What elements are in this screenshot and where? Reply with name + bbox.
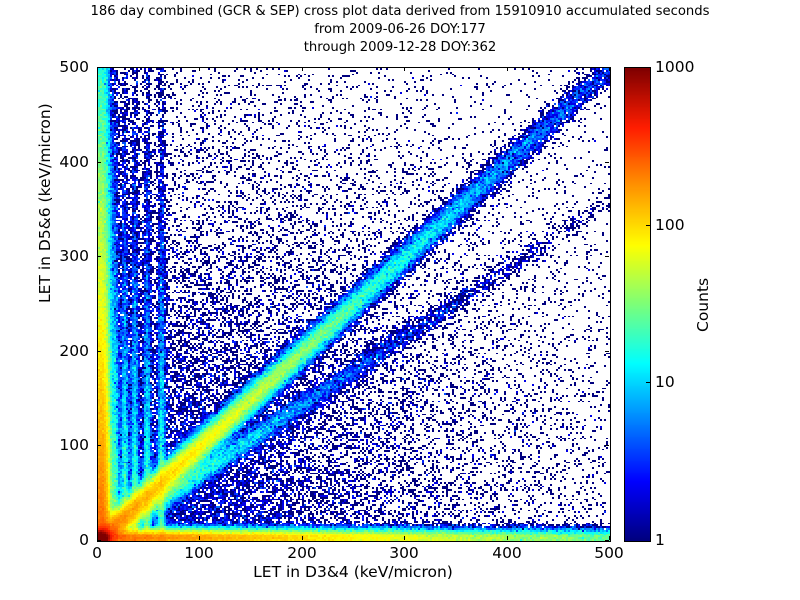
y-tick-right-100 — [605, 445, 609, 446]
y-tick-label-200: 200 — [33, 342, 89, 360]
y-tick-200 — [97, 351, 101, 352]
y-tick-label-100: 100 — [33, 436, 89, 454]
y-tick-100 — [97, 445, 101, 446]
x-tick-top-500 — [609, 67, 610, 71]
colorbar-tick-label-100: 100 — [655, 216, 685, 234]
figure-canvas: 186 day combined (GCR & SEP) cross plot … — [0, 0, 800, 600]
y-tick-right-300 — [605, 256, 609, 257]
x-tick-500 — [609, 536, 610, 540]
y-tick-label-500: 500 — [33, 58, 89, 76]
x-tick-100 — [199, 536, 200, 540]
y-tick-400 — [97, 162, 101, 163]
colorbar-label: Counts — [694, 278, 712, 332]
y-tick-right-0 — [605, 540, 609, 541]
x-tick-top-300 — [404, 67, 405, 71]
title-line-2: from 2009-06-26 DOY:177 — [0, 21, 800, 39]
colorbar-tick-label-10: 10 — [655, 373, 675, 391]
plot-axes — [97, 67, 611, 542]
x-tick-400 — [507, 536, 508, 540]
colorbar-tick-100 — [646, 225, 650, 226]
y-tick-right-500 — [605, 67, 609, 68]
y-tick-right-200 — [605, 351, 609, 352]
y-tick-right-400 — [605, 162, 609, 163]
x-tick-label-400: 400 — [492, 544, 522, 562]
x-axis-label: LET in D3&4 (keV/micron) — [97, 563, 609, 581]
x-tick-top-400 — [507, 67, 508, 71]
colorbar — [624, 67, 651, 542]
x-tick-label-500: 500 — [594, 544, 624, 562]
title-line-1: 186 day combined (GCR & SEP) cross plot … — [0, 3, 800, 21]
colorbar-gradient — [625, 68, 650, 541]
density-heatmap — [98, 68, 610, 541]
title-line-3: through 2009-12-28 DOY:362 — [0, 39, 800, 57]
y-axis-label: LET in D5&6 (keV/micron) — [36, 103, 54, 303]
x-tick-label-0: 0 — [92, 544, 102, 562]
y-tick-0 — [97, 540, 101, 541]
y-tick-500 — [97, 67, 101, 68]
x-tick-200 — [302, 536, 303, 540]
page-title: 186 day combined (GCR & SEP) cross plot … — [0, 3, 800, 57]
colorbar-tick-label-1000: 1000 — [655, 58, 694, 76]
colorbar-tick-10 — [646, 382, 650, 383]
y-tick-label-0: 0 — [33, 531, 89, 549]
x-tick-top-100 — [199, 67, 200, 71]
x-tick-label-100: 100 — [184, 544, 214, 562]
x-tick-top-200 — [302, 67, 303, 71]
x-tick-label-200: 200 — [287, 544, 317, 562]
x-tick-300 — [404, 536, 405, 540]
x-tick-label-300: 300 — [389, 544, 419, 562]
colorbar-tick-label-1: 1 — [655, 531, 665, 549]
y-tick-300 — [97, 256, 101, 257]
